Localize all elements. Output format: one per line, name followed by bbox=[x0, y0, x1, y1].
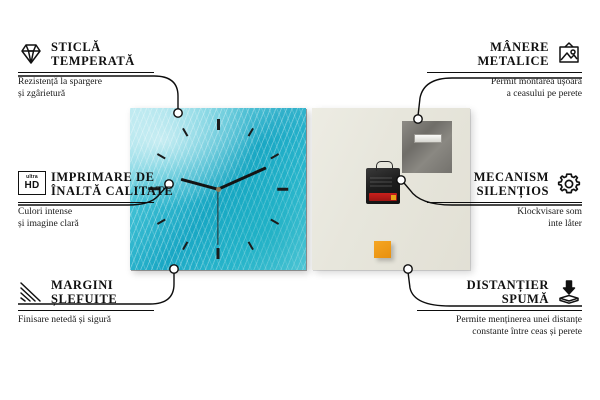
clock-mechanism bbox=[366, 168, 400, 204]
clock-tick bbox=[182, 241, 188, 250]
gear-icon bbox=[556, 171, 582, 197]
metal-hanger-bracket bbox=[414, 134, 442, 143]
callout-head: ultra HD IMPRIMARE DE ÎNALTĂ CALITATE bbox=[18, 170, 154, 198]
callout-title: IMPRIMARE DE ÎNALTĂ CALITATE bbox=[51, 170, 173, 198]
mechanism-hanger-loop bbox=[376, 161, 393, 171]
callout-head: MECANISM SILENȚIOS bbox=[427, 170, 582, 198]
clock-tick bbox=[157, 219, 166, 225]
clock-second-hand bbox=[217, 189, 218, 245]
callout-title: STICLĂ TEMPERATĂ bbox=[51, 40, 135, 68]
callout-rule bbox=[18, 72, 154, 73]
callout-title: DISTANȚIER SPUMĂ bbox=[467, 278, 549, 306]
callout-head: STICLĂ TEMPERATĂ bbox=[18, 40, 154, 68]
clock-tick bbox=[248, 128, 254, 137]
clock-tick bbox=[248, 241, 254, 250]
callout-rule bbox=[427, 202, 582, 203]
callout-hd-printing[interactable]: ultra HD IMPRIMARE DE ÎNALTĂ CALITATE Cu… bbox=[18, 170, 154, 229]
callout-silent-mechanism[interactable]: MECANISM SILENȚIOS Klockvisare som inte … bbox=[427, 170, 582, 229]
callout-description: Culori intense și imagine clară bbox=[18, 206, 154, 229]
callout-head: MÂNERE METALICE bbox=[427, 40, 582, 68]
callout-tempered-glass[interactable]: STICLĂ TEMPERATĂ Rezistență la spargere … bbox=[18, 40, 154, 99]
clock-tick bbox=[217, 119, 220, 130]
clock-tick bbox=[277, 188, 288, 191]
callout-description: Klockvisare som inte låter bbox=[427, 206, 582, 229]
diamond-icon bbox=[18, 41, 44, 67]
clock-tick bbox=[217, 248, 220, 259]
callout-rule bbox=[427, 72, 582, 73]
mechanism-battery bbox=[369, 193, 397, 201]
callout-description: Finisare netedă și sigură bbox=[18, 314, 154, 326]
clock-tick bbox=[270, 153, 279, 159]
beveled-edge-icon bbox=[18, 279, 44, 305]
callout-description: Permite menținerea unei distanțe constan… bbox=[417, 314, 582, 337]
callout-title: MÂNERE METALICE bbox=[477, 40, 549, 68]
clock-tick bbox=[270, 219, 279, 225]
ultra-hd-icon: ultra HD bbox=[18, 171, 44, 197]
callout-description: Permit montarea ușoară a ceasului pe per… bbox=[427, 76, 582, 99]
callout-polished-edges[interactable]: MARGINI ȘLEFUITE Finisare netedă și sigu… bbox=[18, 278, 154, 326]
clock-tick bbox=[182, 128, 188, 137]
callout-foam-spacer[interactable]: DISTANȚIER SPUMĂ Permite menținerea unei… bbox=[417, 278, 582, 337]
callout-rule bbox=[417, 310, 582, 311]
callout-title: MARGINI ȘLEFUITE bbox=[51, 278, 117, 306]
callout-head: DISTANȚIER SPUMĂ bbox=[417, 278, 582, 306]
callout-metal-handles[interactable]: MÂNERE METALICE Permit montarea ușoară a… bbox=[427, 40, 582, 99]
callout-description: Rezistență la spargere și zgârietură bbox=[18, 76, 154, 99]
metal-hanger-plate bbox=[402, 121, 452, 173]
picture-frame-icon bbox=[556, 41, 582, 67]
callout-rule bbox=[18, 202, 154, 203]
foam-spacer-pad bbox=[374, 241, 391, 258]
callout-head: MARGINI ȘLEFUITE bbox=[18, 278, 154, 306]
clock-tick bbox=[157, 153, 166, 159]
infographic-canvas: STICLĂ TEMPERATĂ Rezistență la spargere … bbox=[0, 0, 600, 400]
callout-rule bbox=[18, 310, 154, 311]
callout-title: MECANISM SILENȚIOS bbox=[474, 170, 549, 198]
product-photo bbox=[130, 108, 470, 270]
press-down-icon bbox=[556, 279, 582, 305]
clock-center-cap bbox=[216, 187, 221, 192]
clock-minute-hand bbox=[217, 166, 266, 190]
clock-hour-hand bbox=[181, 178, 219, 191]
